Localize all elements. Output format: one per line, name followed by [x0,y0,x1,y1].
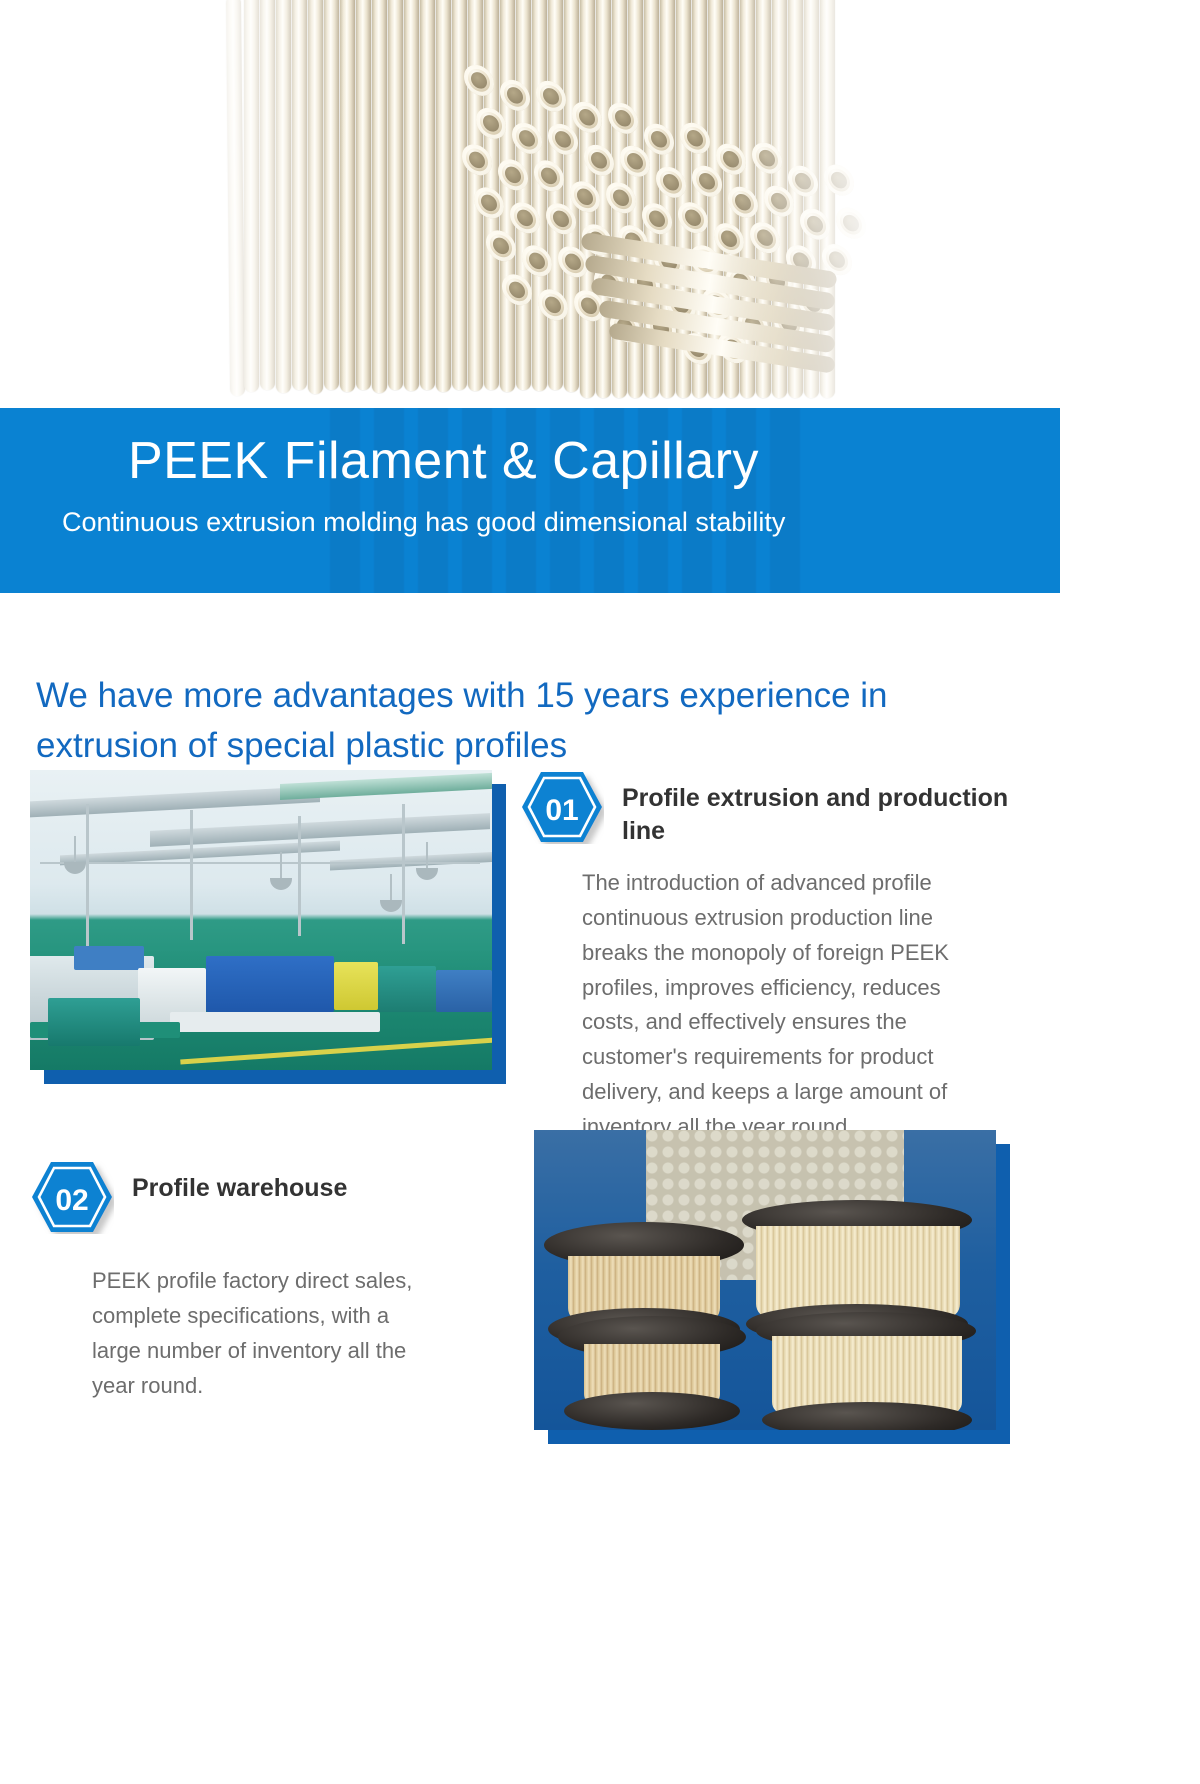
hero-product-image [0,0,1060,408]
feature-01-title: Profile extrusion and production line [622,770,1050,848]
hero-right-fade [730,0,880,408]
feature-01-body: The introduction of advanced profile con… [520,848,965,1144]
feature-01-image-frame [30,770,492,1070]
feature-02-header: 02 Profile warehouse [30,1160,500,1234]
product-detail-page: PEEK Filament & Capillary Continuous ext… [0,0,1060,806]
feature-02-title: Profile warehouse [132,1160,347,1205]
hexagon-badge-02-icon: 02 [30,1160,114,1234]
feature-01: 01 Profile extrusion and production line… [520,770,1050,1144]
feature-02-body: PEEK profile factory direct sales, compl… [30,1234,430,1403]
banner: PEEK Filament & Capillary Continuous ext… [0,408,1060,593]
feature-01-image [30,770,492,1070]
feature-02-image-frame [534,1130,996,1430]
banner-title: PEEK Filament & Capillary [0,408,1060,492]
hexagon-badge-01-number: 01 [545,794,578,827]
features-section: 01 Profile extrusion and production line… [0,770,1060,806]
hero-left-fade [200,0,350,408]
feature-01-header: 01 Profile extrusion and production line [520,770,1050,848]
section-headline: We have more advantages with 15 years ex… [0,593,1030,770]
hexagon-badge-01-icon: 01 [520,770,604,844]
feature-02-image [534,1130,996,1430]
feature-02: 02 Profile warehouse PEEK profile factor… [30,1160,500,1403]
banner-subtitle: Continuous extrusion molding has good di… [0,492,1060,538]
hexagon-badge-02-number: 02 [55,1184,88,1217]
